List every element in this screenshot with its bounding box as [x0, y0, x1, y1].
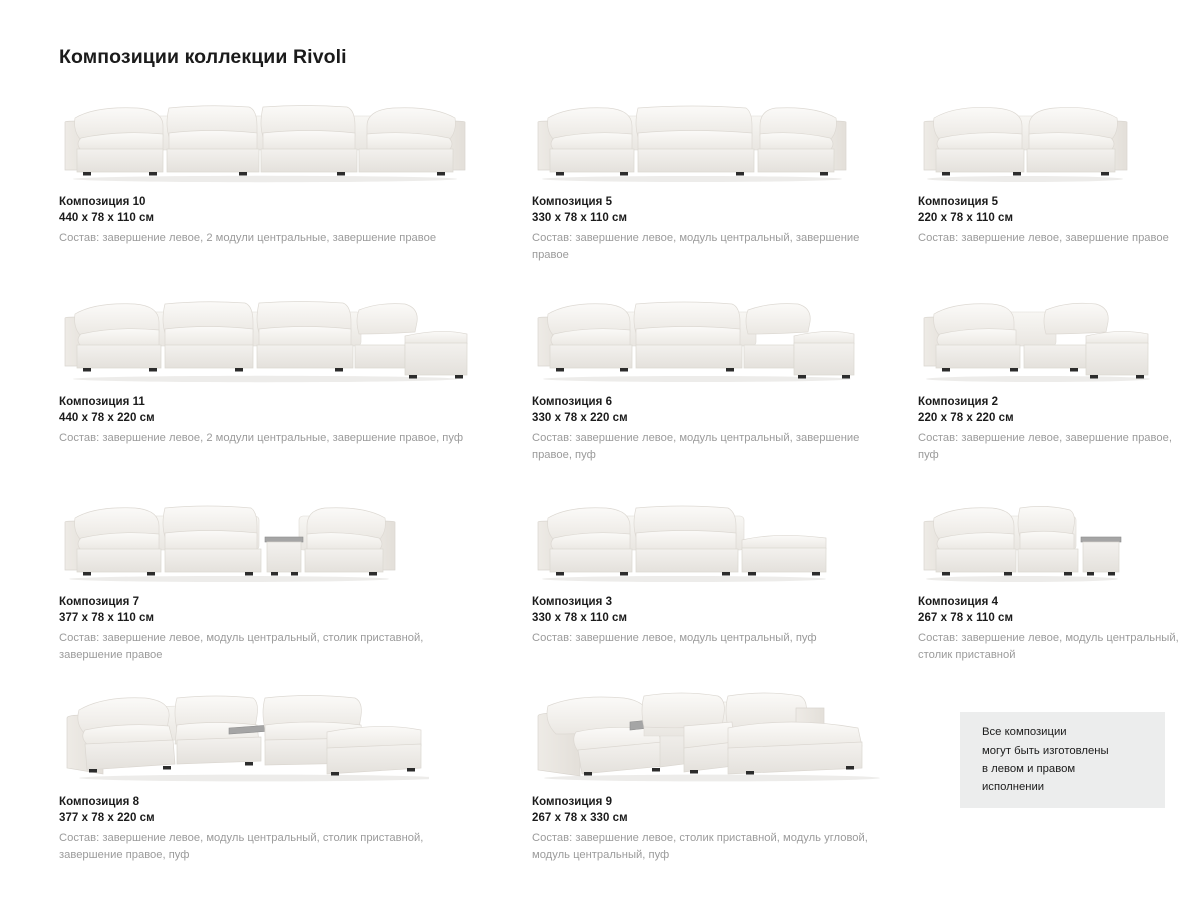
composition-title: Композиция 4 [918, 594, 1186, 610]
composition-title: Композиция 10 [59, 194, 479, 210]
composition-card[interactable]: Композиция 10 440 x 78 x 110 см Состав: … [59, 84, 479, 247]
composition-caption: Композиция 7 377 x 78 x 110 см Состав: з… [59, 594, 479, 664]
composition-description: Состав: завершение левое, модуль централ… [532, 630, 887, 647]
l-shaped-corner-composition-illustration [532, 684, 884, 784]
composition-description: Состав: завершение левое, модуль централ… [532, 430, 887, 464]
composition-title: Композиция 11 [59, 394, 479, 410]
sofa-4-module-with-ottoman-illustration [59, 292, 471, 384]
composition-dimensions: 330 x 78 x 110 см [532, 210, 887, 226]
composition-image [59, 84, 479, 184]
composition-image [59, 684, 479, 784]
composition-dimensions: 377 x 78 x 110 см [59, 610, 479, 626]
composition-image [59, 484, 479, 584]
composition-card[interactable]: Композиция 2 220 x 78 x 220 см Состав: з… [918, 284, 1186, 464]
composition-description: Состав: завершение левое, завершение пра… [918, 430, 1186, 464]
sofa-3-module-with-ottoman-illustration [532, 292, 862, 384]
composition-title: Композиция 3 [532, 594, 887, 610]
composition-dimensions: 440 x 78 x 220 см [59, 410, 479, 426]
side-table-top [1081, 537, 1121, 542]
composition-card[interactable]: Композиция 8 377 x 78 x 220 см Состав: з… [59, 684, 479, 864]
catalog-page: Композиции коллекции Rivoli [0, 0, 1200, 900]
composition-caption: Композиция 8 377 x 78 x 220 см Состав: з… [59, 794, 479, 864]
side-table-top [265, 537, 303, 542]
composition-description: Состав: завершение левое, 2 модули центр… [59, 430, 479, 447]
composition-card[interactable]: Композиция 9 267 x 78 x 330 см Состав: з… [532, 684, 887, 864]
composition-image [532, 84, 887, 184]
composition-caption: Композиция 11 440 x 78 x 220 см Состав: … [59, 394, 479, 447]
composition-row: Композиция 7 377 x 78 x 110 см Состав: з… [0, 484, 1200, 684]
composition-card[interactable]: Композиция 4 267 x 78 x 110 см Состав: з… [918, 484, 1186, 664]
composition-image [918, 84, 1186, 184]
page-title: Композиции коллекции Rivoli [59, 46, 347, 69]
composition-caption: Композиция 6 330 x 78 x 220 см Состав: з… [532, 394, 887, 464]
composition-dimensions: 330 x 78 x 110 см [532, 610, 887, 626]
corner-sofa-with-table-and-ottoman-illustration [59, 684, 429, 784]
composition-card[interactable]: Композиция 5 330 x 78 x 110 см Состав: з… [532, 84, 887, 264]
info-note-box: Все композиции могут быть изготовлены в … [960, 712, 1165, 808]
composition-caption: Композиция 3 330 x 78 x 110 см Состав: з… [532, 594, 887, 647]
composition-card[interactable]: Композиция 11 440 x 78 x 220 см Состав: … [59, 284, 479, 447]
composition-dimensions: 267 x 78 x 110 см [918, 610, 1186, 626]
composition-caption: Композиция 5 330 x 78 x 110 см Состав: з… [532, 194, 887, 264]
composition-title: Композиция 6 [532, 394, 887, 410]
composition-card[interactable]: Композиция 3 330 x 78 x 110 см Состав: з… [532, 484, 887, 647]
composition-dimensions: 330 x 78 x 220 см [532, 410, 887, 426]
composition-card[interactable]: Композиция 7 377 x 78 x 110 см Состав: з… [59, 484, 479, 664]
composition-description: Состав: завершение левое, 2 модули центр… [59, 230, 479, 247]
composition-image [532, 684, 887, 784]
composition-card[interactable]: Композиция 5 220 x 78 x 110 см Состав: з… [918, 84, 1186, 247]
composition-title: Композиция 5 [532, 194, 887, 210]
composition-title: Композиция 2 [918, 394, 1186, 410]
sofa-2-module-with-ottoman-illustration [918, 292, 1158, 384]
composition-caption: Композиция 5 220 x 78 x 110 см Состав: з… [918, 194, 1186, 247]
sofa-2-module-with-side-table-illustration [918, 492, 1133, 584]
composition-dimensions: 377 x 78 x 220 см [59, 810, 479, 826]
composition-caption: Композиция 9 267 x 78 x 330 см Состав: з… [532, 794, 887, 864]
sofa-3-module-illustration [532, 92, 852, 184]
composition-dimensions: 220 x 78 x 220 см [918, 410, 1186, 426]
composition-caption: Композиция 10 440 x 78 x 110 см Состав: … [59, 194, 479, 247]
composition-row: Композиция 11 440 x 78 x 220 см Состав: … [0, 284, 1200, 484]
composition-description: Состав: завершение левое, модуль централ… [59, 830, 479, 864]
composition-caption: Композиция 2 220 x 78 x 220 см Состав: з… [918, 394, 1186, 464]
composition-image [918, 284, 1186, 384]
composition-dimensions: 220 x 78 x 110 см [918, 210, 1186, 226]
composition-image [532, 484, 887, 584]
sofa-with-side-table-illustration [59, 492, 409, 584]
composition-description: Состав: завершение левое, завершение пра… [918, 230, 1186, 247]
composition-description: Состав: завершение левое, модуль централ… [532, 230, 887, 264]
sofa-4-module-illustration [59, 92, 471, 184]
composition-card[interactable]: Композиция 6 330 x 78 x 220 см Состав: з… [532, 284, 887, 464]
sofa-2-module-illustration [918, 92, 1133, 184]
composition-image [59, 284, 479, 384]
composition-title: Композиция 9 [532, 794, 887, 810]
composition-title: Композиция 7 [59, 594, 479, 610]
composition-title: Композиция 5 [918, 194, 1186, 210]
composition-caption: Композиция 4 267 x 78 x 110 см Состав: з… [918, 594, 1186, 664]
info-note-text: Все композиции могут быть изготовлены в … [982, 723, 1109, 796]
composition-dimensions: 440 x 78 x 110 см [59, 210, 479, 226]
composition-description: Состав: завершение левое, столик пристав… [532, 830, 887, 864]
composition-image [918, 484, 1186, 584]
composition-row: Композиция 10 440 x 78 x 110 см Состав: … [0, 84, 1200, 284]
composition-description: Состав: завершение левое, модуль централ… [918, 630, 1186, 664]
composition-dimensions: 267 x 78 x 330 см [532, 810, 887, 826]
composition-title: Композиция 8 [59, 794, 479, 810]
sofa-2-module-with-ottoman-right-illustration [532, 492, 842, 584]
composition-image [532, 284, 887, 384]
composition-description: Состав: завершение левое, модуль централ… [59, 630, 479, 664]
